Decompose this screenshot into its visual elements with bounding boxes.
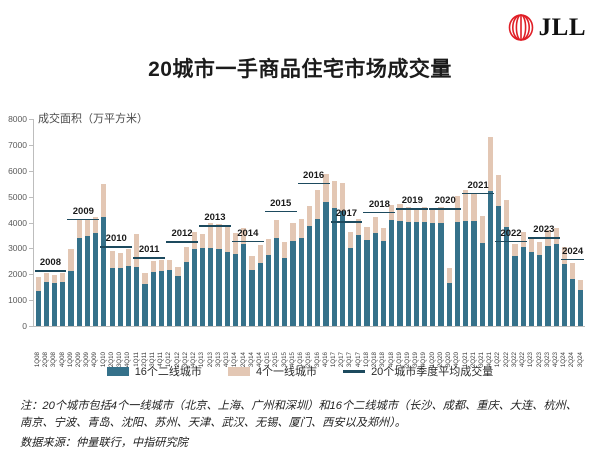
bar-column [447,119,452,326]
bar-column [323,119,328,326]
plot-area: 010002000300040005000600070008000 200820… [33,119,585,326]
y-tick-label: 4000 [0,218,27,228]
year-label: 2021 [468,180,489,191]
year-average-line [331,221,363,223]
bar-segment-tier1 [159,260,164,271]
year-label: 2020 [435,195,456,206]
bar-column [142,119,147,326]
bar-segment-tier2 [233,254,238,326]
bar-segment-tier1 [537,242,542,255]
bar-column [175,119,180,326]
bar-segment-tier1 [249,256,254,270]
bar-segment-tier1 [299,219,304,238]
bar-column [44,119,49,326]
bar-segment-tier2 [126,266,131,326]
legend-swatch-avg [343,370,365,373]
bar-segment-tier2 [529,252,534,326]
jll-wordmark: JLL [539,15,586,40]
bar-column [488,119,493,326]
bar-segment-tier2 [216,249,221,326]
y-tick-mark [29,223,33,224]
legend-item-tier1[interactable]: 4个一线城市 [228,363,317,379]
bar-segment-tier2 [348,248,353,326]
bar-segment-tier1 [397,204,402,221]
bar-column [381,119,386,326]
year-label: 2016 [303,170,324,181]
y-tick-label: 5000 [0,192,27,202]
bar-segment-tier2 [290,241,295,326]
bar-segment-tier1 [381,228,386,241]
bar-segment-tier2 [307,226,312,326]
bar-column [233,119,238,326]
chart-page: JLL 20城市一手商品住宅市场成交量 成交面积（万平方米） 010002000… [0,0,600,465]
bar-segment-tier1 [184,247,189,262]
bar-segment-tier2 [118,268,123,326]
bar-segment-tier1 [44,273,49,282]
bar-segment-tier1 [101,184,106,218]
y-tick-mark [29,171,33,172]
bar-column [77,119,82,326]
year-average-line [100,246,132,248]
year-average-line [166,241,198,243]
legend-swatch-tier1 [228,367,250,376]
bar-segment-tier1 [175,267,180,276]
bar-segment-tier2 [332,208,337,326]
bar-segment-tier1 [60,273,65,282]
bar-segment-tier2 [175,276,180,326]
bar-segment-tier1 [216,224,221,249]
bar-segment-tier1 [529,237,534,251]
bar-column [406,119,411,326]
bar-segment-tier2 [545,246,550,326]
bar-column [455,119,460,326]
bar-segment-tier2 [562,264,567,326]
year-average-line [298,183,330,185]
note-definition: 注：20个城市包括4个一线城市（北京、上海、广州和深圳）和16个二线城市（长沙、… [20,398,582,433]
y-tick-label: 7000 [0,140,27,150]
y-tick-label: 8000 [0,114,27,124]
bar-segment-tier2 [184,262,189,326]
bar-segment-tier1 [480,216,485,243]
bar-column [134,119,139,326]
bar-segment-tier1 [52,275,57,283]
year-label: 2018 [369,199,390,210]
bar-segment-tier2 [488,191,493,326]
bar-column [438,119,443,326]
bar-segment-tier1 [315,190,320,219]
y-tick-mark [29,326,33,327]
bar-column [578,119,583,326]
bar-column [151,119,156,326]
bar-segment-tier1 [414,208,419,222]
bar-segment-tier1 [142,273,147,284]
bar-column [373,119,378,326]
bar-segment-tier2 [299,238,304,326]
bar-column [282,119,287,326]
year-label: 2010 [106,233,127,244]
bar-segment-tier2 [389,220,394,326]
legend-label-tier1: 4个一线城市 [256,363,317,379]
y-tick-mark [29,145,33,146]
year-average-line [396,208,428,210]
bar-segment-tier1 [340,183,345,211]
jll-logo: JLL [508,14,586,41]
bar-column [504,119,509,326]
bar-column [299,119,304,326]
bar-column [471,119,476,326]
bar-segment-tier1 [77,220,82,238]
chart-container: 成交面积（万平方米） 01000200030004000500060007000… [0,108,600,363]
y-tick-label: 3000 [0,243,27,253]
bar-column [167,119,172,326]
bar-column [85,119,90,326]
bar-column [315,119,320,326]
bar-segment-tier2 [323,202,328,326]
bar-column [241,119,246,326]
y-tick-mark [29,119,33,120]
year-label: 2011 [139,244,160,255]
bar-column [545,119,550,326]
y-tick-label: 2000 [0,269,27,279]
legend-item-avg[interactable]: 20个城市季度平均成交量 [343,363,493,379]
bar-segment-tier2 [430,223,435,327]
bar-segment-tier1 [36,277,41,291]
y-tick-mark [29,248,33,249]
bar-segment-tier2 [414,222,419,326]
bar-segment-tier2 [159,271,164,326]
bar-segment-tier2 [471,221,476,326]
bar-segment-tier1 [447,268,452,282]
bar-column [562,119,567,326]
bar-segment-tier1 [258,245,263,263]
y-tick-mark [29,197,33,198]
bar-column [159,119,164,326]
bar-segment-tier2 [249,270,254,326]
bar-segment-tier2 [93,233,98,326]
year-label: 2017 [336,208,357,219]
bar-segment-tier1 [167,260,172,270]
bar-segment-tier2 [200,248,205,326]
bar-segment-tier1 [126,249,131,266]
bar-segment-tier2 [134,267,139,327]
bar-segment-tier1 [274,220,279,238]
bar-column [60,119,65,326]
bar-segment-tier1 [151,261,156,272]
bar-column [397,119,402,326]
y-tick-label: 1000 [0,295,27,305]
bar-segment-tier2 [463,221,468,326]
bar-segment-tier2 [381,241,386,326]
bar-column [307,119,312,326]
bar-segment-tier1 [85,220,90,236]
year-average-line [232,241,264,243]
bar-column [496,119,501,326]
year-label: 2024 [562,246,583,257]
y-tick-label: 6000 [0,166,27,176]
bar-segment-tier2 [77,238,82,326]
bar-segment-tier1 [332,181,337,208]
jll-mark-icon [508,14,534,41]
bar-segment-tier1 [512,244,517,256]
bar-segment-tier1 [118,253,123,268]
bar-segment-tier1 [496,175,501,206]
bar-segment-tier2 [208,248,213,326]
x-axis-labels: 1Q082Q083Q084Q081Q092Q093Q094Q091Q102Q10… [34,327,585,367]
bar-segment-tier1 [430,208,435,222]
bar-segment-tier2 [52,283,57,326]
bar-segment-tier1 [364,227,369,240]
page-title: 20城市一手商品住宅市场成交量 [0,53,600,83]
bar-segment-tier2 [397,221,402,326]
bar-column [36,119,41,326]
bar-segment-tier1 [570,263,575,280]
bar-segment-tier2 [167,270,172,326]
bar-segment-tier2 [274,238,279,326]
bar-column [249,119,254,326]
year-average-line [133,257,165,259]
bar-column [274,119,279,326]
bar-segment-tier2 [282,258,287,326]
legend-label-avg: 20个城市季度平均成交量 [371,363,493,379]
bar-segment-tier2 [570,279,575,326]
bar-column [480,119,485,326]
bar-segment-tier2 [422,222,427,326]
bar-segment-tier2 [258,263,263,326]
bar-column [52,119,57,326]
bar-column [389,119,394,326]
legend-label-tier2: 16个二线城市 [135,363,202,379]
bar-segment-tier1 [200,234,205,248]
bar-column [126,119,131,326]
bar-segment-tier2 [315,219,320,326]
year-label: 2008 [40,257,61,268]
year-average-line [199,225,231,227]
bar-segment-tier2 [447,283,452,326]
bar-segment-tier2 [480,243,485,326]
bar-segment-tier1 [110,251,115,268]
bar-series-group [34,119,585,326]
bar-column [192,119,197,326]
bar-segment-tier1 [282,242,287,259]
bar-segment-tier2 [455,222,460,326]
bar-segment-tier1 [373,217,378,233]
bar-column [266,119,271,326]
year-average-line [67,219,99,221]
note-source: 数据来源：仲量联行，中指研究院 [20,435,582,452]
year-label: 2022 [500,228,521,239]
bar-segment-tier2 [44,282,49,327]
y-tick-mark [29,300,33,301]
bar-segment-tier2 [578,290,583,326]
bar-column [570,119,575,326]
bar-column [290,119,295,326]
bar-segment-tier1 [307,206,312,226]
year-average-line [561,259,585,261]
year-label: 2015 [270,198,291,209]
bar-column [463,119,468,326]
chart-legend: 16个二线城市4个一线城市20个城市季度平均成交量 [0,363,600,379]
bar-segment-tier1 [471,193,476,221]
bar-segment-tier2 [225,252,230,326]
year-average-line [495,241,527,243]
bar-segment-tier1 [68,249,73,271]
year-average-line [528,237,560,239]
bar-segment-tier2 [512,256,517,326]
bar-segment-tier2 [364,240,369,326]
bar-segment-tier1 [504,200,509,227]
year-label: 2019 [402,195,423,206]
bar-column [118,119,123,326]
y-tick-label: 0 [0,321,27,331]
bar-column [537,119,542,326]
bar-segment-tier1 [348,232,353,248]
year-average-line [265,211,297,213]
bar-column [512,119,517,326]
bar-column [258,119,263,326]
year-average-line [462,193,494,195]
bar-segment-tier1 [266,239,271,255]
bar-segment-tier2 [60,282,65,326]
chart-notes: 注：20个城市包括4个一线城市（北京、上海、广州和深圳）和16个二线城市（长沙、… [20,398,582,452]
bar-segment-tier2 [241,244,246,326]
legend-swatch-tier2 [107,367,129,376]
year-label: 2012 [171,228,192,239]
bar-column [101,119,106,326]
year-average-line [363,212,395,214]
bar-segment-tier2 [438,223,443,326]
bar-segment-tier2 [192,249,197,326]
bar-segment-tier2 [537,255,542,326]
bar-column [68,119,73,326]
bar-segment-tier2 [356,235,361,326]
bar-column [184,119,189,326]
year-label: 2013 [204,212,225,223]
year-label: 2009 [73,206,94,217]
legend-item-tier2[interactable]: 16个二线城市 [107,363,202,379]
bar-column [110,119,115,326]
bar-segment-tier2 [68,271,73,326]
bar-segment-tier2 [554,244,559,326]
bar-segment-tier1 [578,280,583,290]
bar-segment-tier2 [521,247,526,326]
year-label: 2023 [533,224,554,235]
bar-segment-tier2 [85,236,90,326]
bar-segment-tier2 [496,206,501,326]
bar-segment-tier2 [110,268,115,326]
bar-segment-tier2 [151,272,156,326]
year-label: 2014 [237,228,258,239]
bar-column [521,119,526,326]
bar-segment-tier2 [373,233,378,326]
bar-segment-tier2 [340,211,345,326]
bar-column [430,119,435,326]
bar-segment-tier1 [225,225,230,252]
bar-segment-tier1 [463,190,468,221]
bar-column [529,119,534,326]
y-tick-mark [29,274,33,275]
bar-segment-tier2 [36,291,41,326]
bar-column [554,119,559,326]
bar-segment-tier2 [266,255,271,326]
year-average-line [429,208,461,210]
bar-column [422,119,427,326]
bar-segment-tier2 [406,222,411,326]
bar-column [93,119,98,326]
bar-column [364,119,369,326]
year-average-line [35,270,67,272]
bar-segment-tier1 [290,223,295,241]
bar-column [414,119,419,326]
bar-segment-tier2 [142,284,147,326]
